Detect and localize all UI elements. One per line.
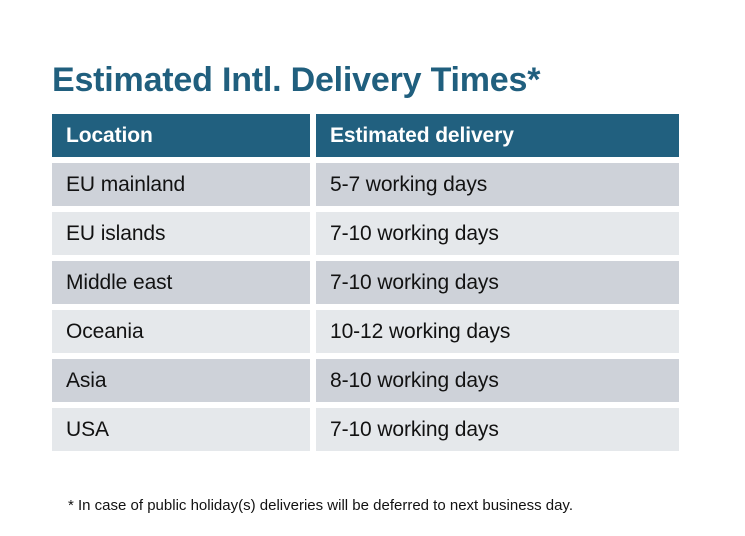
cell-location: Middle east <box>52 261 310 304</box>
table-row: Asia 8-10 working days <box>52 359 679 402</box>
column-header-delivery: Estimated delivery <box>316 114 679 157</box>
cell-location: Oceania <box>52 310 310 353</box>
table-header-row: Location Estimated delivery <box>52 114 679 157</box>
delivery-times-page: Estimated Intl. Delivery Times* Location… <box>0 0 745 536</box>
cell-delivery: 5-7 working days <box>316 163 679 206</box>
cell-delivery: 10-12 working days <box>316 310 679 353</box>
column-header-location: Location <box>52 114 310 157</box>
cell-location: USA <box>52 408 310 451</box>
footnote-text: * In case of public holiday(s) deliverie… <box>68 496 708 516</box>
table-header: Location Estimated delivery <box>52 114 679 157</box>
cell-delivery: 7-10 working days <box>316 408 679 451</box>
delivery-times-table: Location Estimated delivery EU mainland … <box>46 108 685 457</box>
table-row: Oceania 10-12 working days <box>52 310 679 353</box>
cell-location: EU islands <box>52 212 310 255</box>
cell-delivery: 7-10 working days <box>316 261 679 304</box>
table-row: EU mainland 5-7 working days <box>52 163 679 206</box>
table-row: Middle east 7-10 working days <box>52 261 679 304</box>
cell-delivery: 7-10 working days <box>316 212 679 255</box>
table-row: USA 7-10 working days <box>52 408 679 451</box>
table-body: EU mainland 5-7 working days EU islands … <box>52 163 679 451</box>
page-title: Estimated Intl. Delivery Times* <box>52 59 712 101</box>
cell-location: EU mainland <box>52 163 310 206</box>
cell-delivery: 8-10 working days <box>316 359 679 402</box>
cell-location: Asia <box>52 359 310 402</box>
table-row: EU islands 7-10 working days <box>52 212 679 255</box>
